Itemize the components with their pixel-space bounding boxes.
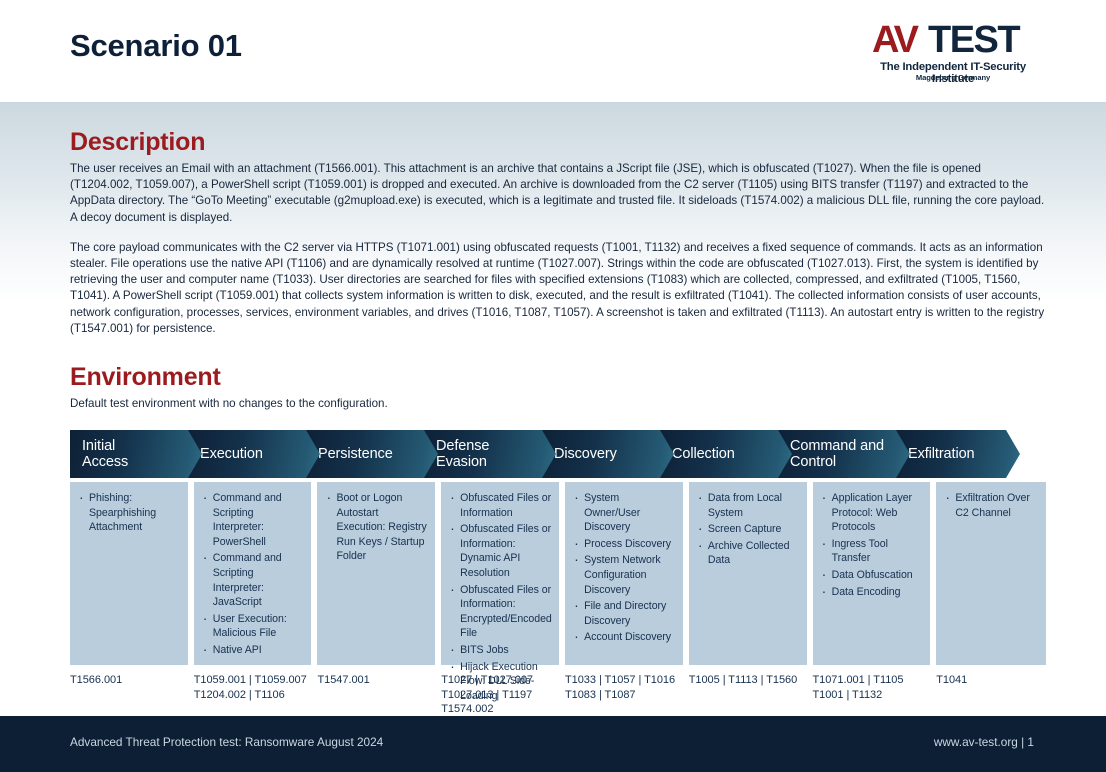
tactic-header-discovery[interactable]: Discovery — [542, 430, 674, 478]
tactic-header-label: Initial Access — [82, 438, 128, 470]
technique-item: Command and Scripting Interpreter: JavaS… — [202, 551, 304, 609]
tactics-header-row: Initial AccessExecutionPersistenceDefens… — [70, 430, 1046, 478]
technique-ids-row: T1566.001T1059.001 | T1059.007 T1204.002… — [70, 673, 1046, 717]
page-header: Scenario 01 AV TEST The Independent IT-S… — [0, 0, 1106, 102]
footer-website-page: www.av-test.org | 1 — [934, 735, 1034, 749]
tactic-header-label: Collection — [672, 446, 735, 462]
tactic-header-label: Discovery — [554, 446, 617, 462]
tactic-header-initial-access[interactable]: Initial Access — [70, 430, 202, 478]
page-title: Scenario 01 — [70, 28, 242, 64]
techniques-column-exfiltration: Exfiltration Over C2 Channel — [936, 482, 1046, 665]
technique-ids-initial-access: T1566.001 — [70, 673, 188, 717]
technique-ids-execution: T1059.001 | T1059.007 T1204.002 | T1106 — [194, 673, 312, 717]
techniques-column-execution: Command and Scripting Interpreter: Power… — [194, 482, 312, 665]
logo-test-text: TEST — [928, 20, 1019, 60]
technique-item: Obfuscated Files or Information — [449, 491, 551, 520]
tactics-and-techniques-table: Initial AccessExecutionPersistenceDefens… — [70, 430, 1046, 717]
techniques-column-discovery: System Owner/User DiscoveryProcess Disco… — [565, 482, 683, 665]
technique-ids-exfiltration: T1041 — [936, 673, 1046, 717]
tactic-header-collection[interactable]: Collection — [660, 430, 792, 478]
technique-ids-discovery: T1033 | T1057 | T1016 T1083 | T1087 — [565, 673, 683, 717]
technique-list: Command and Scripting Interpreter: Power… — [202, 491, 304, 658]
technique-list: System Owner/User DiscoveryProcess Disco… — [573, 491, 675, 645]
tactic-header-label: Execution — [200, 446, 263, 462]
technique-item: Boot or Logon Autostart Execution: Regis… — [325, 491, 427, 564]
techniques-column-persistence: Boot or Logon Autostart Execution: Regis… — [317, 482, 435, 665]
technique-item: Hijack Execution Flow: DLL Side-Loading — [449, 660, 551, 704]
technique-item: Data Obfuscation — [821, 568, 923, 583]
footer-test-name: Advanced Threat Protection test: Ransomw… — [70, 735, 383, 749]
environment-text: Default test environment with no changes… — [70, 396, 1046, 412]
tactic-header-execution[interactable]: Execution — [188, 430, 320, 478]
tactic-header-label: Defense Evasion — [436, 438, 489, 470]
av-test-logo: AV TEST The Independent IT-Security Inst… — [872, 20, 1034, 82]
technique-item: System Network Configuration Discovery — [573, 553, 675, 597]
technique-item: Obfuscated Files or Information: Dynamic… — [449, 522, 551, 580]
technique-list: Data from Local SystemScreen CaptureArch… — [697, 491, 799, 568]
tactic-header-command-and-control[interactable]: Command and Control — [778, 430, 910, 478]
technique-list: Phishing: Spearphishing Attachment — [78, 491, 180, 535]
technique-item: Obfuscated Files or Information: Encrypt… — [449, 583, 551, 641]
tactic-header-exfiltration[interactable]: Exfiltration — [896, 430, 1020, 478]
tactic-header-label: Persistence — [318, 446, 393, 462]
page-footer: Advanced Threat Protection test: Ransomw… — [0, 716, 1106, 772]
technique-item: Screen Capture — [697, 522, 799, 537]
technique-item: Data from Local System — [697, 491, 799, 520]
technique-ids-collection: T1005 | T1113 | T1560 — [689, 673, 807, 717]
techniques-columns-row: Phishing: Spearphishing AttachmentComman… — [70, 482, 1046, 665]
technique-item: System Owner/User Discovery — [573, 491, 675, 535]
techniques-column-collection: Data from Local SystemScreen CaptureArch… — [689, 482, 807, 665]
technique-item: Phishing: Spearphishing Attachment — [78, 491, 180, 535]
technique-item: Process Discovery — [573, 537, 675, 552]
tactic-header-persistence[interactable]: Persistence — [306, 430, 438, 478]
technique-list: Boot or Logon Autostart Execution: Regis… — [325, 491, 427, 564]
technique-ids-persistence: T1547.001 — [318, 673, 436, 717]
techniques-column-defense-evasion: Obfuscated Files or InformationObfuscate… — [441, 482, 559, 665]
technique-item: Data Encoding — [821, 585, 923, 600]
technique-item: BITS Jobs — [449, 643, 551, 658]
environment-heading: Environment — [70, 337, 1046, 392]
description-paragraph-1: The user receives an Email with an attac… — [70, 161, 1046, 226]
techniques-column-initial-access: Phishing: Spearphishing Attachment — [70, 482, 188, 665]
logo-wordmark: AV TEST — [872, 20, 1034, 60]
techniques-column-command-and-control: Application Layer Protocol: Web Protocol… — [813, 482, 931, 665]
description-heading: Description — [70, 102, 1046, 157]
tactic-header-defense-evasion[interactable]: Defense Evasion — [424, 430, 556, 478]
technique-list: Application Layer Protocol: Web Protocol… — [821, 491, 923, 599]
technique-list: Obfuscated Files or InformationObfuscate… — [449, 491, 551, 703]
technique-item: Application Layer Protocol: Web Protocol… — [821, 491, 923, 535]
technique-item: File and Directory Discovery — [573, 599, 675, 628]
tactic-header-label: Exfiltration — [908, 446, 975, 462]
logo-av-text: AV — [872, 20, 916, 60]
technique-item: User Execution: Malicious File — [202, 612, 304, 641]
technique-item: Ingress Tool Transfer — [821, 537, 923, 566]
technique-item: Exfiltration Over C2 Channel — [944, 491, 1038, 520]
technique-item: Native API — [202, 643, 304, 658]
logo-location: Magdeburg Germany — [872, 73, 1034, 82]
technique-item: Account Discovery — [573, 630, 675, 645]
description-paragraph-2: The core payload communicates with the C… — [70, 240, 1046, 337]
technique-item: Command and Scripting Interpreter: Power… — [202, 491, 304, 549]
technique-list: Exfiltration Over C2 Channel — [944, 491, 1038, 520]
technique-ids-command-and-control: T1071.001 | T1105 T1001 | T1132 — [813, 673, 931, 717]
tactic-header-label: Command and Control — [790, 438, 884, 470]
technique-item: Archive Collected Data — [697, 539, 799, 568]
document-content: Description The user receives an Email w… — [70, 102, 1046, 463]
